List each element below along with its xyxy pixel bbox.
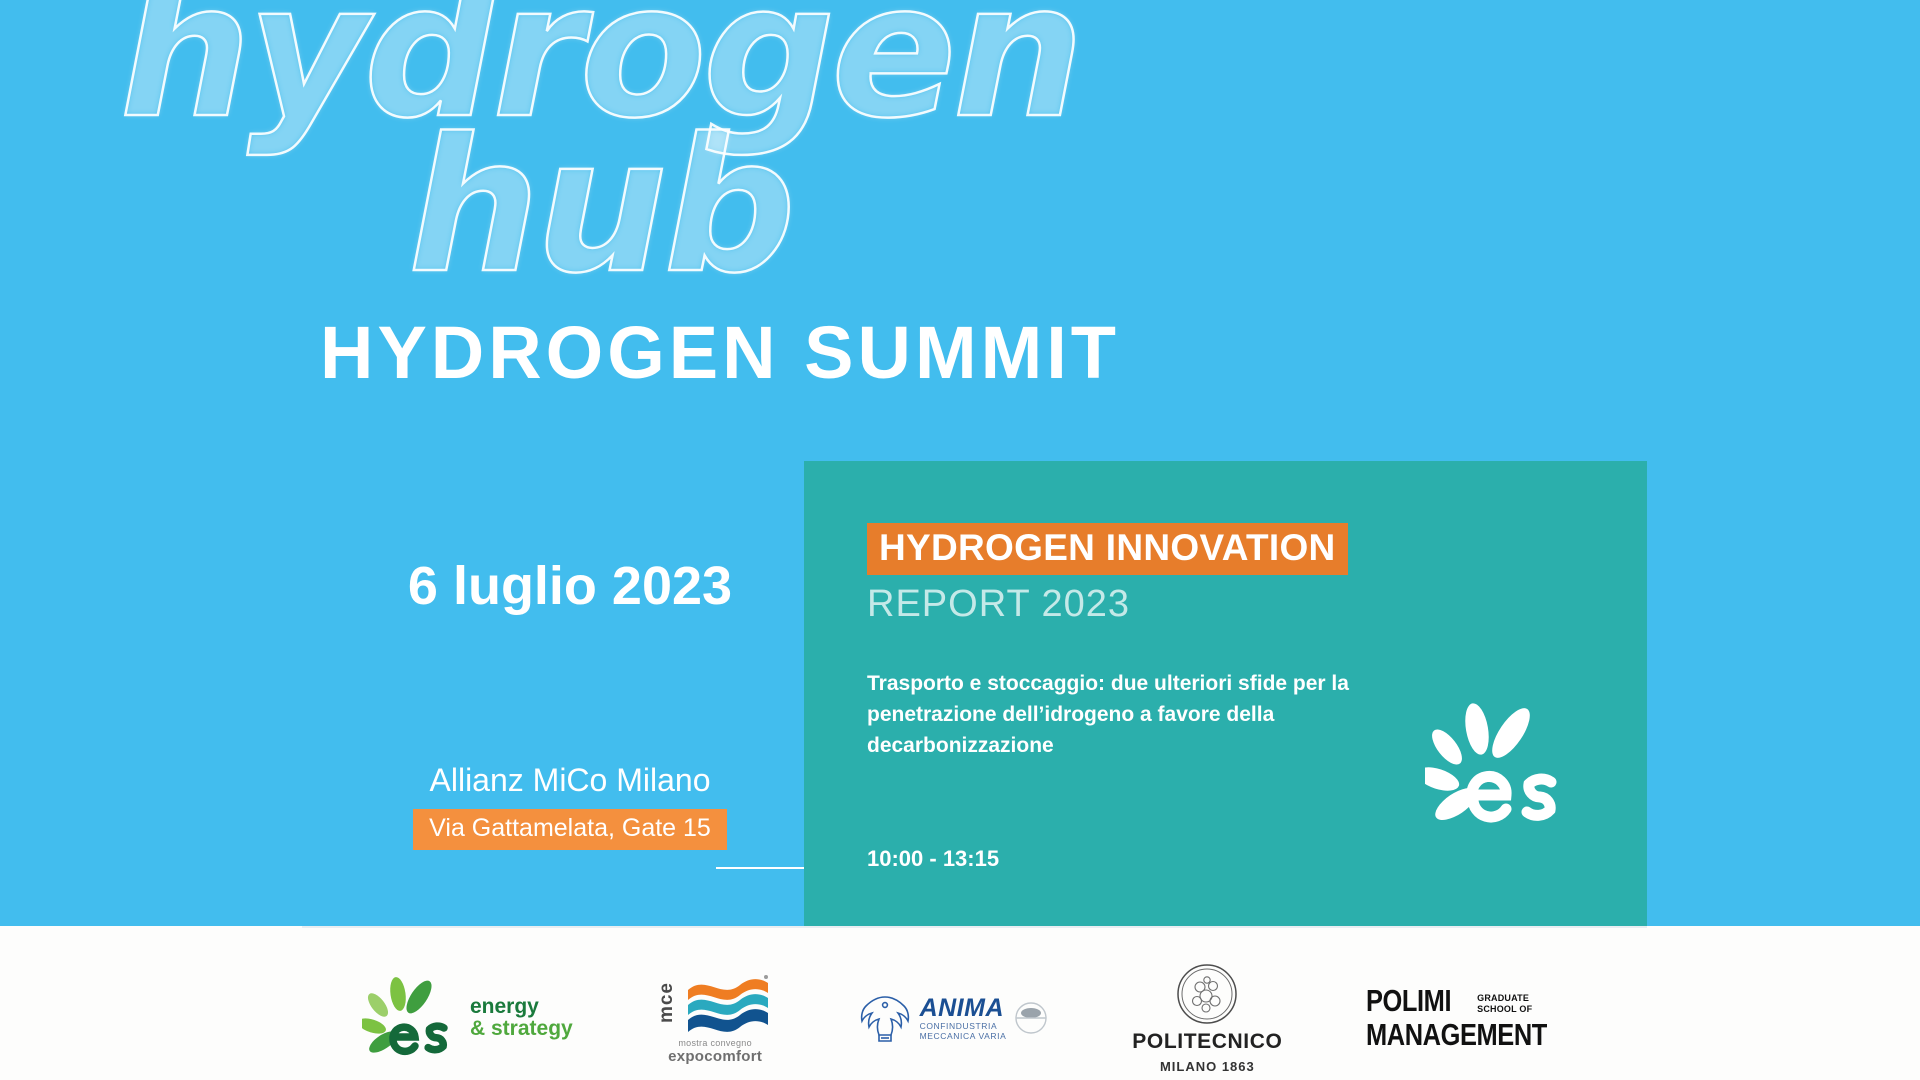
hero-banner: hydrogen hub HYDROGEN SUMMIT 6 luglio 20… bbox=[0, 0, 1920, 926]
page-title: HYDROGEN SUMMIT bbox=[0, 310, 1920, 395]
report-kicker: HYDROGEN INNOVATION bbox=[867, 523, 1348, 575]
venue-name: Allianz MiCo Milano bbox=[300, 762, 840, 799]
polimi-small-line1: GRADUATE bbox=[1477, 993, 1529, 1003]
mce-wordmark: mce bbox=[657, 982, 676, 1023]
sponsor-logo-anima[interactable]: ANIMA CONFINDUSTRIA MECCANICA VARIA bbox=[858, 968, 1049, 1068]
sponsor-logo-polimi[interactable]: POLIMI GRADUATE SCHOOL OF MANAGEMENT bbox=[1366, 968, 1587, 1068]
es-logo bbox=[1425, 703, 1575, 831]
anima-seal-icon bbox=[1014, 1001, 1048, 1035]
hydrogen-hub-wordmark: hydrogen hub bbox=[0, 0, 1200, 285]
polimi-wordmark: POLIMI bbox=[1366, 987, 1451, 1016]
es-petal-icon bbox=[362, 976, 458, 1060]
es-label-line2: & strategy bbox=[470, 1018, 573, 1040]
sponsor-logo-row: energy & strategy mce bbox=[302, 964, 1647, 1072]
es-label-line1: energy bbox=[470, 996, 573, 1018]
politecnico-wordmark: POLITECNICO bbox=[1132, 1030, 1282, 1054]
anima-wordmark: ANIMA bbox=[920, 995, 1007, 1023]
wordmark-line-hydrogen: hydrogen bbox=[0, 0, 1200, 129]
wordmark-line-hub: hub bbox=[0, 129, 1200, 284]
mce-waves-icon bbox=[682, 972, 774, 1034]
mce-tagline-line2: expocomfort bbox=[668, 1048, 762, 1065]
poster-stage: hydrogen hub HYDROGEN SUMMIT 6 luglio 20… bbox=[0, 0, 1920, 1080]
event-time: 10:00 - 13:15 bbox=[867, 846, 999, 872]
venue-block: Allianz MiCo Milano Via Gattamelata, Gat… bbox=[300, 762, 840, 850]
event-details-column: 6 luglio 2023 Allianz MiCo Milano Via Ga… bbox=[300, 555, 840, 850]
report-subtitle: REPORT 2023 bbox=[867, 583, 1623, 626]
report-description: Trasporto e stoccaggio: due ulteriori sf… bbox=[867, 668, 1367, 761]
sponsor-logo-es-energy-strategy[interactable]: energy & strategy bbox=[362, 968, 573, 1068]
event-date: 6 luglio 2023 bbox=[300, 555, 840, 617]
sponsor-logo-mce[interactable]: mce mostra convegno expocomfort bbox=[657, 968, 774, 1068]
anima-eagle-icon bbox=[858, 990, 912, 1046]
polimi-small-line2: SCHOOL OF bbox=[1477, 1004, 1532, 1014]
venue-address-badge: Via Gattamelata, Gate 15 bbox=[413, 809, 727, 850]
footer-divider bbox=[302, 926, 1647, 928]
polimi-management-label: MANAGEMENT bbox=[1366, 1021, 1547, 1050]
sponsor-logo-politecnico[interactable]: POLITECNICO MILANO 1863 bbox=[1132, 968, 1282, 1068]
politecnico-seal-icon bbox=[1176, 963, 1238, 1025]
anima-sub-line2: MECCANICA VARIA bbox=[920, 1032, 1007, 1041]
politecnico-subline: MILANO 1863 bbox=[1160, 1059, 1255, 1074]
mce-tagline-line1: mostra convegno bbox=[678, 1038, 752, 1048]
sponsor-footer: energy & strategy mce bbox=[0, 926, 1920, 1080]
